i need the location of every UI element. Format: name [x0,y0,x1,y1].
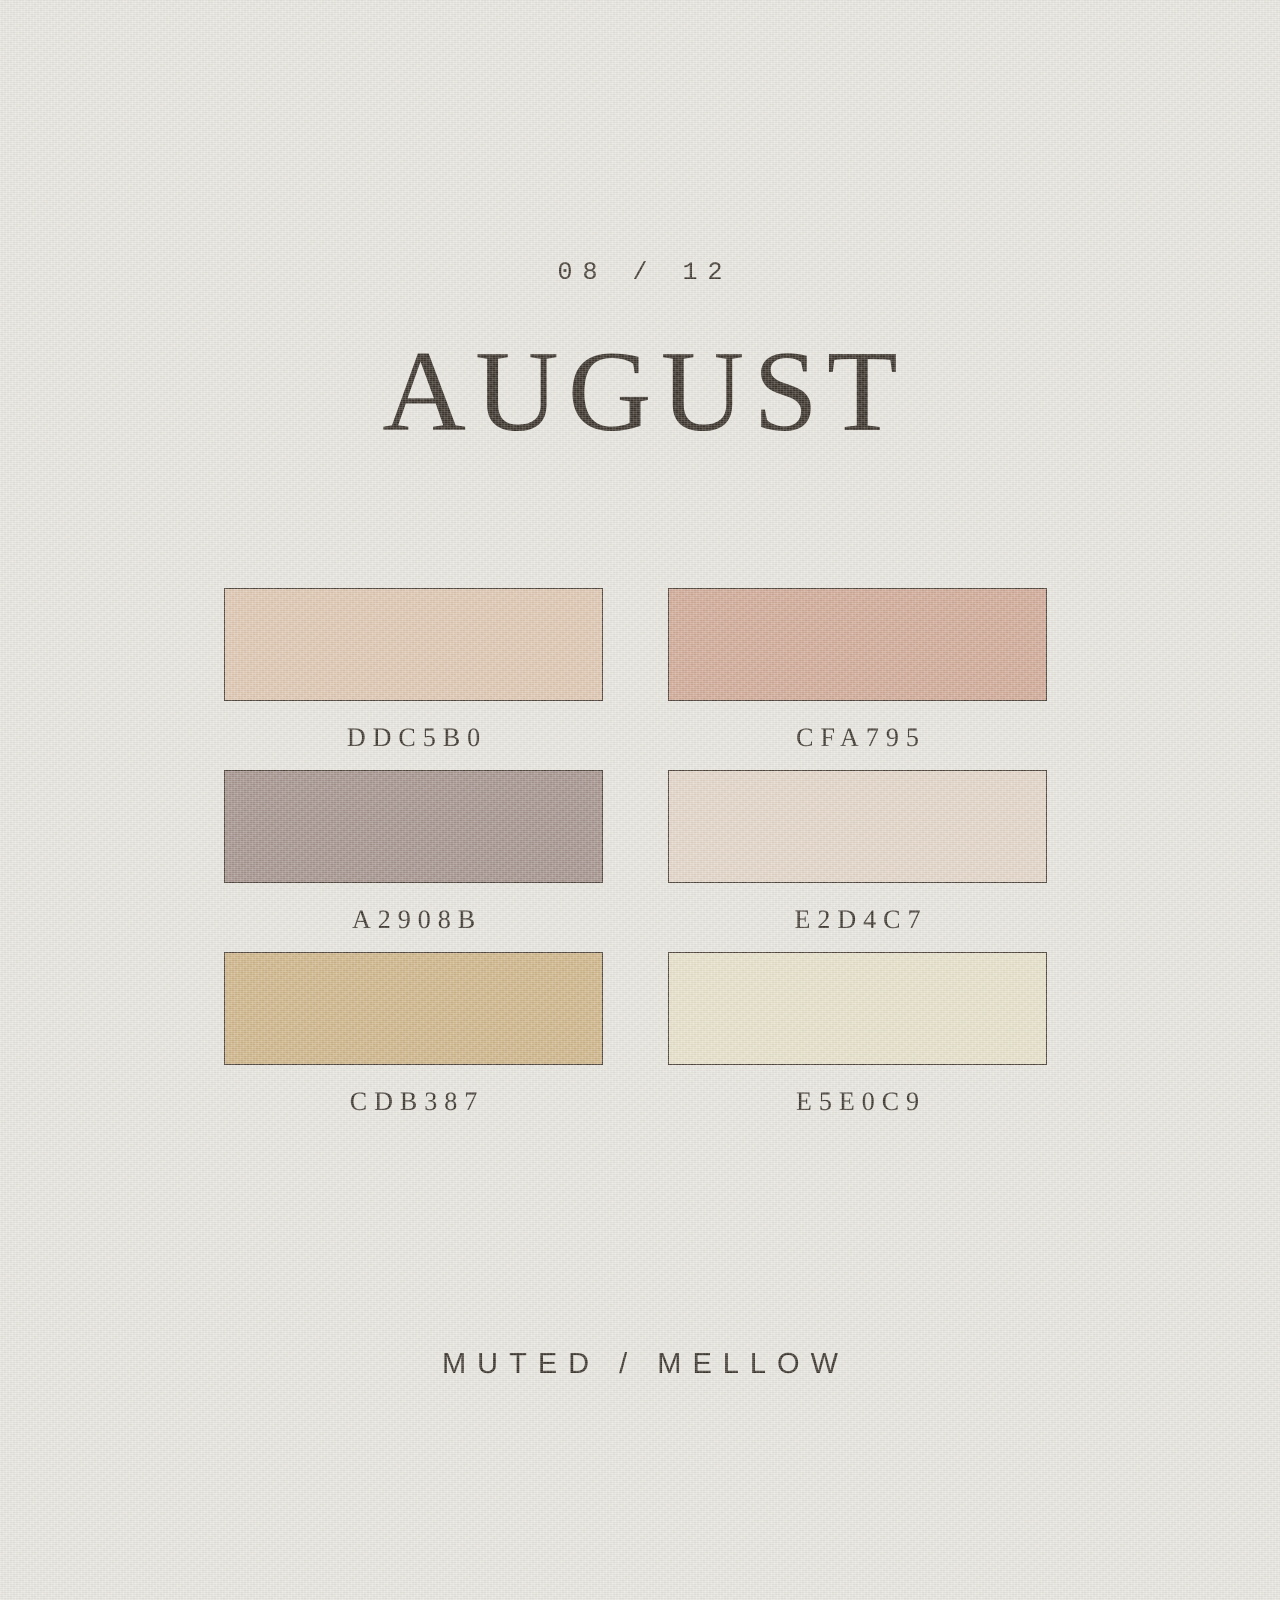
swatch-cell[interactable]: CFA795 [668,588,1047,753]
color-swatch[interactable] [668,770,1047,883]
swatch-grid: DDC5B0 CFA795 A2908B E2D4C7 CDB387 [224,588,1047,1117]
color-swatch[interactable] [224,770,603,883]
color-code-label: E2D4C7 [668,905,1047,935]
palette-card: 08 / 12 AUGUST DDC5B0 CFA795 A2908B E2D4… [0,0,1280,1600]
color-code-label: CFA795 [668,723,1047,753]
color-swatch[interactable] [668,952,1047,1065]
color-swatch[interactable] [224,588,603,701]
swatch-cell[interactable]: DDC5B0 [224,588,603,753]
swatch-cell[interactable]: CDB387 [224,952,603,1117]
color-code-label: CDB387 [224,1087,603,1117]
color-swatch[interactable] [668,588,1047,701]
palette-tagline: MUTED / MELLOW [0,1348,1280,1381]
swatch-row: DDC5B0 CFA795 [224,588,1047,753]
color-swatch[interactable] [224,952,603,1065]
swatch-row: CDB387 E5E0C9 [224,952,1047,1117]
date-line: 08 / 12 [0,258,1280,287]
swatch-cell[interactable]: E2D4C7 [668,770,1047,935]
swatch-cell[interactable]: A2908B [224,770,603,935]
page-title: AUGUST [0,332,1280,454]
color-code-label: DDC5B0 [224,723,603,753]
color-code-label: A2908B [224,905,603,935]
swatch-row: A2908B E2D4C7 [224,770,1047,935]
color-code-label: E5E0C9 [668,1087,1047,1117]
swatch-cell[interactable]: E5E0C9 [668,952,1047,1117]
